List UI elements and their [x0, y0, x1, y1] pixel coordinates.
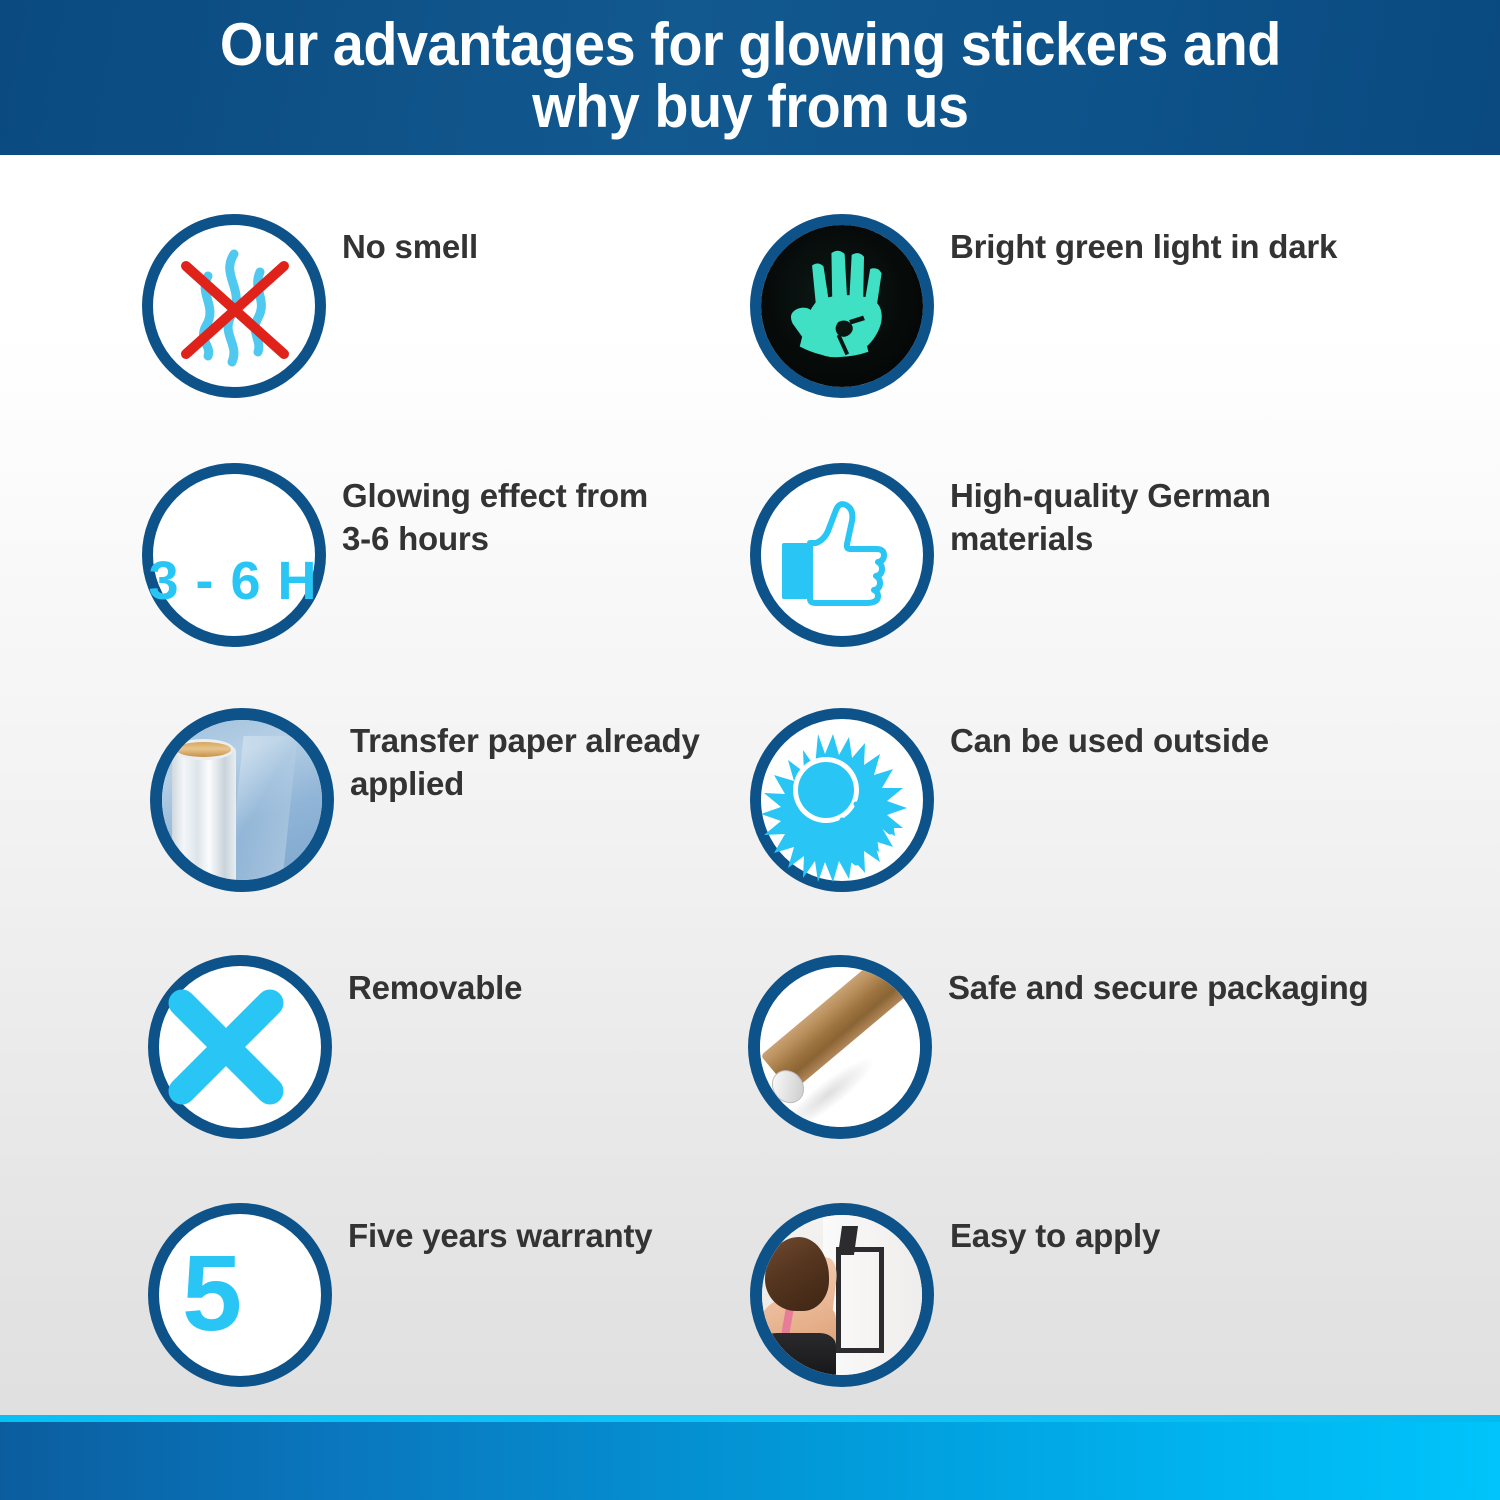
feature-easy-to-apply: Easy to apply: [750, 1203, 1160, 1387]
handprint-glyph: [761, 225, 923, 387]
x-mark-glyph: [148, 955, 332, 1139]
duration-icon-text: 3 - 6 H: [142, 463, 326, 647]
duration-3-6-hours-icon: 3 - 6 H: [142, 463, 326, 647]
feature-label: Bright green light in dark: [950, 214, 1337, 269]
page-title: Our advantages for glowing stickers and …: [201, 14, 1299, 136]
no-smell-icon: [142, 214, 326, 398]
feature-bright-green-light: Bright green light in dark: [750, 214, 1337, 398]
feature-label: Easy to apply: [950, 1203, 1160, 1258]
footer-banner: [0, 1422, 1500, 1500]
feature-glowing-duration: 3 - 6 H Glowing effect from 3-6 hours: [142, 463, 648, 647]
sun-rays-glyph: [750, 708, 934, 892]
warranty-five-icon: 5: [148, 1203, 332, 1387]
feature-label: Glowing effect from 3-6 hours: [342, 463, 648, 561]
no-smell-glyph: [142, 214, 326, 398]
feature-label: Removable: [348, 955, 522, 1010]
thumbs-up-icon: [750, 463, 934, 647]
transfer-paper-roll-icon: [150, 708, 334, 892]
feature-warranty: 5 Five years warranty: [148, 1203, 652, 1387]
feature-transfer-paper: Transfer paper already applied: [150, 708, 700, 892]
warranty-icon-text: 5: [148, 1203, 332, 1387]
thumbs-up-glyph: [750, 463, 934, 647]
woman-applying-decal-icon: [750, 1203, 934, 1387]
mailing-tube-icon: [748, 955, 932, 1139]
feature-removable: Removable: [148, 955, 522, 1139]
glowing-handprint-icon: [750, 214, 934, 398]
sun-rays-icon: [750, 708, 934, 892]
feature-label: Safe and secure packaging: [948, 955, 1369, 1010]
feature-label: High-quality German materials: [950, 463, 1380, 561]
x-mark-icon: [148, 955, 332, 1139]
feature-label: Can be used outside: [950, 708, 1269, 763]
feature-secure-packaging: Safe and secure packaging: [748, 955, 1369, 1139]
feature-outside-use: Can be used outside: [750, 708, 1269, 892]
advantages-grid: No smell: [0, 155, 1500, 1400]
feature-label: Five years warranty: [348, 1203, 652, 1258]
footer-accent-line: [0, 1415, 1500, 1422]
feature-label: Transfer paper already applied: [350, 708, 700, 806]
feature-german-materials: High-quality German materials: [750, 463, 1380, 647]
feature-label: No smell: [342, 214, 478, 269]
feature-no-smell: No smell: [142, 214, 478, 398]
header-banner: Our advantages for glowing stickers and …: [0, 0, 1500, 155]
